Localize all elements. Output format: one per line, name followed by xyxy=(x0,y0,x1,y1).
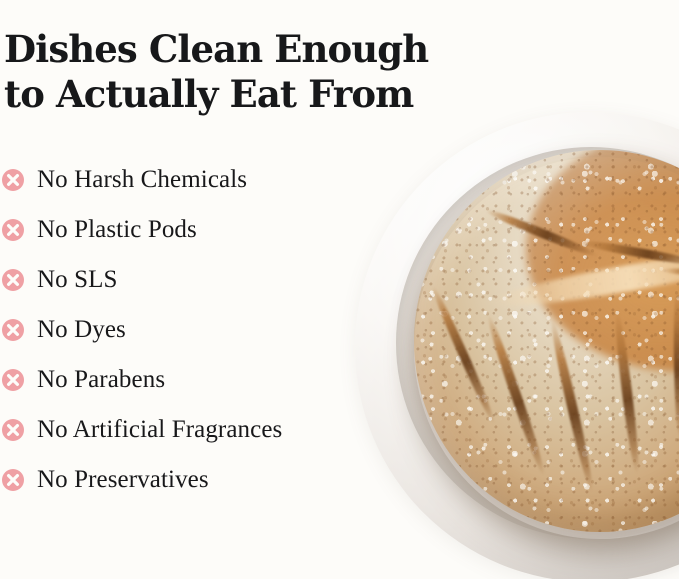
x-circle-icon xyxy=(2,419,24,441)
x-circle-icon xyxy=(2,369,24,391)
list-item-label: No Preservatives xyxy=(37,467,209,493)
x-circle-icon xyxy=(2,219,24,241)
list-item-label: No SLS xyxy=(37,267,117,293)
list-item: No Harsh Chemicals xyxy=(2,155,347,205)
list-item: No Preservatives xyxy=(2,455,347,505)
list-item: No Parabens xyxy=(2,355,347,405)
x-circle-icon xyxy=(2,469,24,491)
x-circle-icon xyxy=(2,269,24,291)
list-item: No Dyes xyxy=(2,305,347,355)
list-item-label: No Plastic Pods xyxy=(37,217,197,243)
headline-line-1: Dishes Clean Enough xyxy=(4,27,524,72)
x-circle-icon xyxy=(2,169,24,191)
list-item-label: No Parabens xyxy=(37,367,165,393)
list-item: No Plastic Pods xyxy=(2,205,347,255)
promotional-graphic: Dishes Clean Enough to Actually Eat From… xyxy=(0,0,679,579)
list-item: No Artificial Fragrances xyxy=(2,405,347,455)
bread-bowl-photo xyxy=(330,95,679,579)
list-item-label: No Harsh Chemicals xyxy=(37,167,247,193)
list-item-label: No Artificial Fragrances xyxy=(37,417,282,443)
x-circle-icon xyxy=(2,319,24,341)
benefit-list: No Harsh Chemicals No Plastic Pods No SL… xyxy=(2,155,347,505)
list-item-label: No Dyes xyxy=(37,317,126,343)
list-item: No SLS xyxy=(2,255,347,305)
